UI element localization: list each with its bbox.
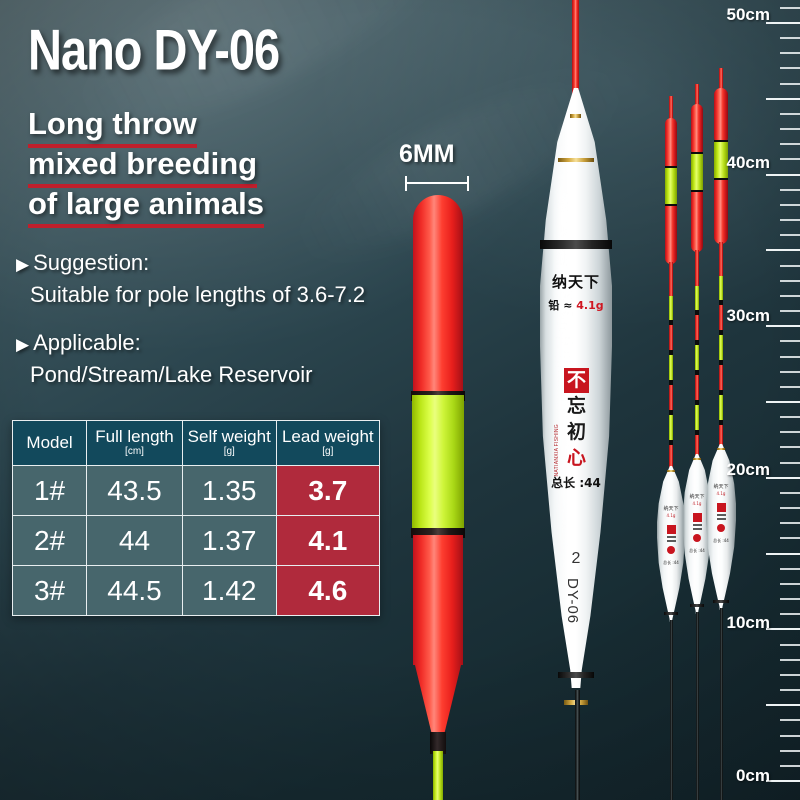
ruler-tick-minor xyxy=(780,583,800,585)
header-full-length-unit: [cm] xyxy=(87,447,182,458)
main-float-seal-stamp: 不 忘 初 心 xyxy=(564,368,589,472)
mini-float-1-stripe-g2 xyxy=(669,355,673,381)
ruler-tick-minor xyxy=(780,507,800,509)
red-float-green-tail xyxy=(433,751,443,800)
ruler-tick-minor xyxy=(780,613,800,615)
seal-char-1: 不 xyxy=(564,368,589,393)
mini-float-1-stripe-r1 xyxy=(669,325,673,351)
ruler-tick-minor xyxy=(780,522,800,524)
ruler-tick-minor xyxy=(780,340,800,342)
main-float-brand-text: 纳天下 xyxy=(520,271,632,292)
triangle-bullet-icon: ▶ xyxy=(16,255,29,275)
mini-float-1-carbon-stem xyxy=(670,620,673,800)
ruler-tick-minor xyxy=(780,371,800,373)
ruler-tick-minor xyxy=(780,128,800,130)
ruler-label-40cm: 40cm xyxy=(727,153,770,173)
lead-value-text: 4.1g xyxy=(576,299,603,312)
mini-float-1-stripe-r3 xyxy=(669,445,673,469)
ruler-tick-minor xyxy=(780,204,800,206)
diameter-label: 6MM xyxy=(399,140,455,169)
ruler-tick-minor xyxy=(780,219,800,221)
product-title: Nano DY-06 xyxy=(28,16,279,83)
lead-prefix-text: 铅 ≈ xyxy=(548,299,572,312)
seal-char-2: 忘 xyxy=(564,394,589,419)
cell-full-length: 44.5 xyxy=(87,566,183,616)
dimension-tick-right xyxy=(467,176,469,191)
ruler-tick-minor xyxy=(780,83,800,85)
spec-table-body: 1# 43.5 1.35 3.7 2# 44 1.37 4.1 3# 44.5 … xyxy=(13,466,380,616)
ruler-label-0cm: 0cm xyxy=(736,766,770,786)
mini-float-1-stripe-r2 xyxy=(669,385,673,411)
main-float-carbon-stem xyxy=(575,690,580,800)
table-header-row: Model Full length [cm] Self weight [g] L… xyxy=(13,421,380,466)
ruler-tick-minor xyxy=(780,310,800,312)
mini-float-1-stripe-g1 xyxy=(669,296,673,322)
ruler-tick-major xyxy=(766,249,800,251)
spec-table: Model Full length [cm] Self weight [g] L… xyxy=(12,420,380,616)
ruler-tick-minor xyxy=(780,67,800,69)
red-float-lower-body xyxy=(413,535,463,665)
main-float-highlight xyxy=(556,120,569,600)
ruler-tick-minor xyxy=(780,537,800,539)
ruler-tick-minor xyxy=(780,37,800,39)
cell-model: 3# xyxy=(13,566,87,616)
red-float-green-band xyxy=(412,395,464,530)
ruler-tick-minor xyxy=(780,295,800,297)
red-float-upper-body xyxy=(413,195,463,405)
tagline-line-3: of large animals xyxy=(28,186,264,228)
main-float-pinyin-text: NATIANXIA FISHING xyxy=(554,424,560,477)
applicable-value: Pond/Stream/Lake Reservoir xyxy=(30,362,312,388)
main-float-black-ring-bottom xyxy=(558,672,594,678)
header-self-weight-text: Self weight xyxy=(188,427,271,446)
header-self-weight-unit: [g] xyxy=(183,447,276,458)
main-float-product: 纳天下 铅 ≈ 4.1g 不 忘 初 心 NATIANXIA FISHING 总… xyxy=(520,0,632,800)
ruler-tick-minor xyxy=(780,735,800,737)
ruler-tick-major xyxy=(766,477,800,479)
cell-lead-weight: 4.1 xyxy=(276,516,379,566)
table-row: 2# 44 1.37 4.1 xyxy=(13,516,380,566)
ruler-tick-minor xyxy=(780,719,800,721)
header-self-weight: Self weight [g] xyxy=(182,421,276,466)
ruler-tick-major xyxy=(766,22,800,24)
header-model-text: Model xyxy=(26,433,72,452)
seal-char-4: 心 xyxy=(564,446,589,471)
applicable-heading: ▶Applicable: xyxy=(16,330,141,356)
ruler-tick-major xyxy=(766,174,800,176)
suggestion-heading: ▶Suggestion: xyxy=(16,250,149,276)
ruler-tick-minor xyxy=(780,158,800,160)
main-float-model-code: DY-06 xyxy=(564,578,581,624)
mini-float-1-stem-upper xyxy=(669,262,673,298)
suggestion-label: Suggestion: xyxy=(33,250,149,275)
tagline-line-1: Long throw xyxy=(28,106,197,148)
ruler-label-50cm: 50cm xyxy=(727,5,770,25)
header-full-length: Full length [cm] xyxy=(87,421,183,466)
applicable-label: Applicable: xyxy=(33,330,141,355)
ruler-tick-minor xyxy=(780,446,800,448)
main-float-lead-spec: 铅 ≈ 4.1g xyxy=(520,297,632,313)
ruler-tick-minor xyxy=(780,431,800,433)
cell-lead-weight: 3.7 xyxy=(276,466,379,516)
ruler-tick-major xyxy=(766,628,800,630)
mini-float-1-stripe-g3 xyxy=(669,415,673,441)
ruler-tick-minor xyxy=(780,143,800,145)
ruler-tick-major xyxy=(766,325,800,327)
triangle-bullet-icon: ▶ xyxy=(16,335,29,355)
ruler-tick-minor xyxy=(780,644,800,646)
measuring-ruler: 50cm 40cm 30cm 20cm 10cm 0cm xyxy=(720,0,800,800)
table-row: 3# 44.5 1.42 4.6 xyxy=(13,566,380,616)
ruler-tick-major xyxy=(766,98,800,100)
cell-self-weight: 1.37 xyxy=(182,516,276,566)
cell-self-weight: 1.42 xyxy=(182,566,276,616)
main-float-gold-ring-top xyxy=(570,114,581,118)
cell-model: 1# xyxy=(13,466,87,516)
ruler-tick-minor xyxy=(780,598,800,600)
ruler-tick-major xyxy=(766,401,800,403)
ruler-tick-minor xyxy=(780,689,800,691)
ruler-label-30cm: 30cm xyxy=(727,306,770,326)
product-ad-canvas: Nano DY-06 Long throw mixed breeding of … xyxy=(0,0,800,800)
ruler-tick-minor xyxy=(780,659,800,661)
ruler-label-10cm: 10cm xyxy=(727,613,770,633)
ruler-tick-minor xyxy=(780,416,800,418)
cell-lead-weight: 4.6 xyxy=(276,566,379,616)
ruler-tick-minor xyxy=(780,113,800,115)
ruler-tick-minor xyxy=(780,492,800,494)
tagline-underline-3: of large animals xyxy=(28,186,264,228)
ruler-label-20cm: 20cm xyxy=(727,460,770,480)
ruler-tick-major xyxy=(766,704,800,706)
ruler-tick-minor xyxy=(780,386,800,388)
ruler-tick-minor xyxy=(780,265,800,267)
ruler-tick-minor xyxy=(780,674,800,676)
header-lead-weight-text: Lead weight xyxy=(282,427,374,446)
dimension-line xyxy=(405,182,469,184)
cell-full-length: 44 xyxy=(87,516,183,566)
main-float-total-length: 总长 :44 xyxy=(520,474,632,491)
ruler-tick-minor xyxy=(780,356,800,358)
dimension-tick-left xyxy=(405,176,407,191)
ruler-tick-minor xyxy=(780,568,800,570)
ruler-tick-minor xyxy=(780,52,800,54)
main-float-black-band xyxy=(540,240,612,249)
header-lead-weight: Lead weight [g] xyxy=(276,421,379,466)
ruler-tick-major xyxy=(766,553,800,555)
mini-float-1-antenna xyxy=(669,96,673,120)
spec-table-head: Model Full length [cm] Self weight [g] L… xyxy=(13,421,380,466)
seal-char-3: 初 xyxy=(564,420,589,445)
tagline-underline-1: Long throw xyxy=(28,106,197,148)
header-full-length-text: Full length xyxy=(95,427,173,446)
header-model: Model xyxy=(13,421,87,466)
red-float-closeup xyxy=(404,195,472,715)
tagline-line-2: mixed breeding xyxy=(28,146,257,188)
ruler-tick-minor xyxy=(780,765,800,767)
cell-self-weight: 1.35 xyxy=(182,466,276,516)
ruler-tick-minor xyxy=(780,7,800,9)
ruler-tick-minor xyxy=(780,189,800,191)
ruler-tick-minor xyxy=(780,280,800,282)
ruler-tick-minor xyxy=(780,462,800,464)
suggestion-value: Suitable for pole lengths of 3.6-7.2 xyxy=(30,282,365,308)
ruler-tick-minor xyxy=(780,234,800,236)
main-float-size-number: 2 xyxy=(520,550,632,568)
table-row: 1# 43.5 1.35 3.7 xyxy=(13,466,380,516)
cell-full-length: 43.5 xyxy=(87,466,183,516)
cell-model: 2# xyxy=(13,516,87,566)
ruler-tick-minor xyxy=(780,750,800,752)
header-lead-weight-unit: [g] xyxy=(277,447,379,458)
main-float-gold-ring-upper xyxy=(558,158,594,162)
ruler-tick-major xyxy=(766,780,800,782)
tagline-underline-2: mixed breeding xyxy=(28,146,257,188)
